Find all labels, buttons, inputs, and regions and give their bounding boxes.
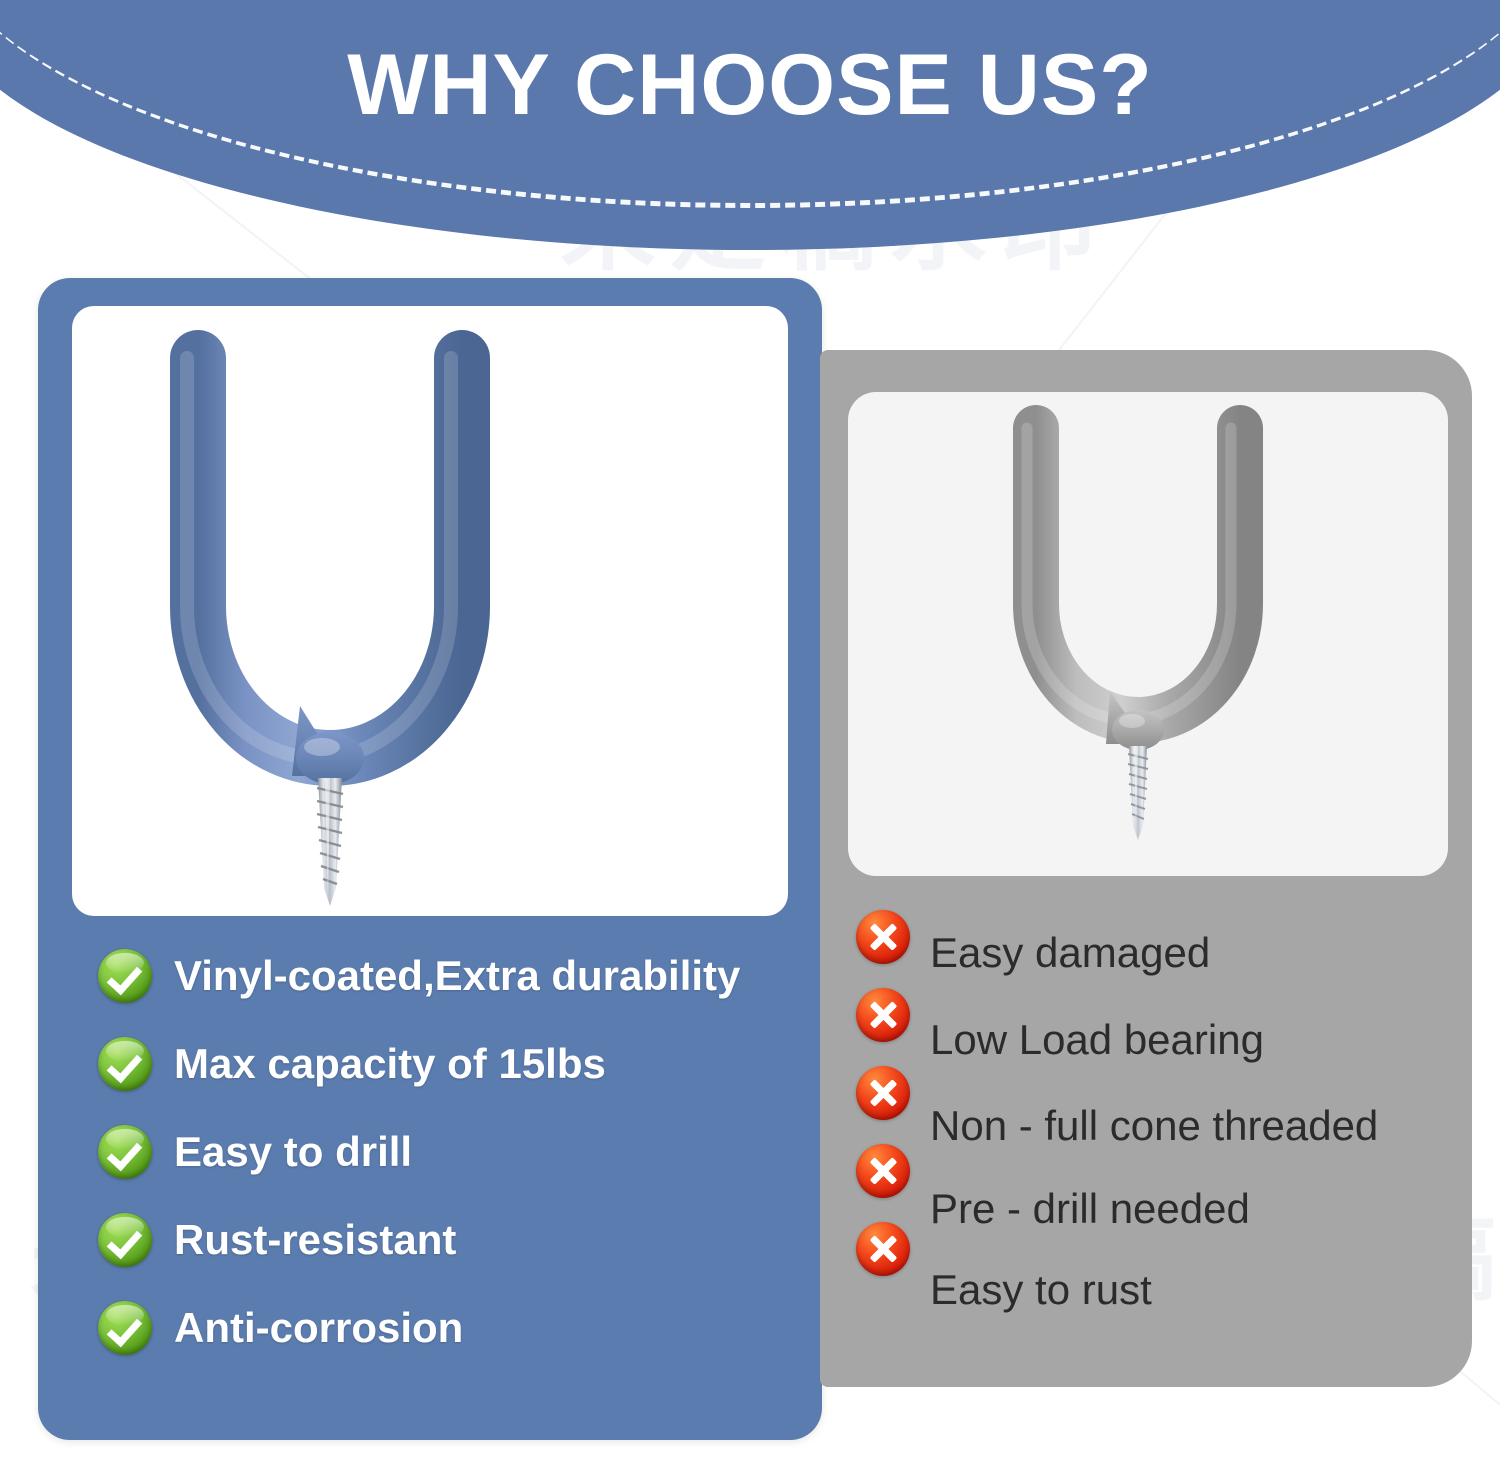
- list-item: Non - full cone threaded: [930, 1084, 1470, 1168]
- pros-item-label: Anti-corrosion: [174, 1304, 463, 1352]
- list-item: Max capacity of 15lbs: [98, 1021, 798, 1106]
- x-icon: [856, 910, 910, 964]
- list-item: Pre - drill needed: [930, 1168, 1470, 1250]
- list-item-icon-slot: [856, 1144, 916, 1222]
- check-icon: [98, 1037, 152, 1091]
- page-title: WHY CHOOSE US?: [0, 42, 1500, 128]
- check-icon: [98, 949, 152, 1003]
- cons-feature-list: Easy damaged Low Load bearing Non - full…: [856, 910, 1472, 1340]
- cons-text-column: Easy damaged Low Load bearing Non - full…: [930, 910, 1470, 1330]
- list-item: Easy to rust: [930, 1250, 1470, 1330]
- x-icon: [856, 988, 910, 1042]
- list-item-icon-slot: [856, 1066, 916, 1144]
- pros-panel: Vinyl-coated,Extra durability Max capaci…: [38, 278, 822, 1440]
- pros-feature-list: Vinyl-coated,Extra durability Max capaci…: [98, 933, 798, 1373]
- cons-icon-column: [856, 910, 916, 1300]
- list-item: Vinyl-coated,Extra durability: [98, 933, 798, 1018]
- list-item: Easy damaged: [930, 910, 1470, 996]
- cons-item-label: Low Load bearing: [930, 1016, 1264, 1064]
- check-icon: [98, 1213, 152, 1267]
- cons-panel: Easy damaged Low Load bearing Non - full…: [820, 350, 1472, 1387]
- list-item-icon-slot: [856, 988, 916, 1066]
- list-item: Easy to drill: [98, 1109, 798, 1194]
- list-item: Low Load bearing: [930, 996, 1470, 1084]
- check-icon: [98, 1125, 152, 1179]
- cons-item-label: Pre - drill needed: [930, 1185, 1250, 1233]
- pros-item-label: Easy to drill: [174, 1128, 412, 1176]
- x-icon: [856, 1144, 910, 1198]
- x-icon: [856, 1222, 910, 1276]
- gray-plain-u-hook-icon: [848, 392, 1448, 876]
- pros-item-label: Max capacity of 15lbs: [174, 1040, 606, 1088]
- x-icon: [856, 1066, 910, 1120]
- pros-item-label: Rust-resistant: [174, 1216, 456, 1264]
- check-icon: [98, 1301, 152, 1355]
- list-item-icon-slot: [856, 910, 916, 988]
- cons-product-image-card: [848, 392, 1448, 876]
- pros-product-image-card: [72, 306, 788, 916]
- list-item: Rust-resistant: [98, 1197, 798, 1282]
- cons-item-label: Easy to rust: [930, 1266, 1152, 1314]
- cons-item-label: Non - full cone threaded: [930, 1102, 1378, 1150]
- pros-item-label: Vinyl-coated,Extra durability: [174, 952, 740, 1000]
- list-item-icon-slot: [856, 1222, 916, 1300]
- cons-item-label: Easy damaged: [930, 929, 1210, 977]
- blue-vinyl-coated-u-hook-icon: [72, 306, 788, 916]
- list-item: Anti-corrosion: [98, 1285, 798, 1370]
